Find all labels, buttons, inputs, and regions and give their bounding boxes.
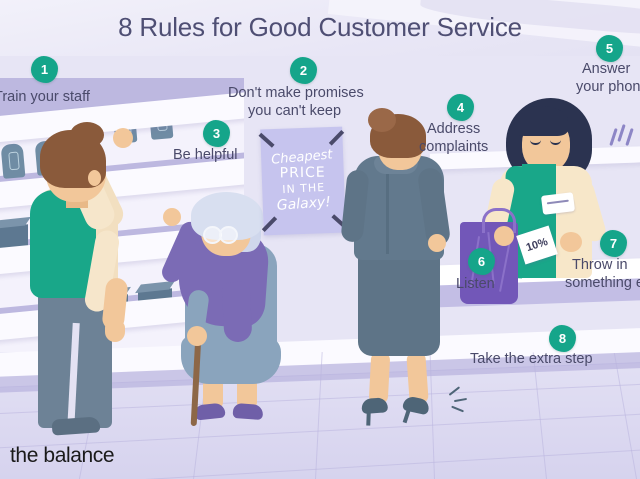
rule-badge-4: 4 [447,94,474,121]
rule-label-2-line2: you can't keep [248,102,341,120]
rule-badge-3: 3 [203,120,230,147]
sound-lines-icon [612,124,638,154]
rule-badge-6: 6 [468,248,495,275]
rule-badge-5: 5 [596,35,623,62]
rule-label-2-line1: Don't make promises [228,84,364,102]
sign-line-3: IN THE [282,182,325,196]
sign-tape [259,133,275,148]
clerk-lower-hand [105,320,125,342]
character-store-clerk [8,118,168,448]
rule-label-5-line2: your phone [576,78,640,96]
rule-label-7-line2: something extra [565,274,640,292]
rule-label-4-line1: Address [427,120,480,138]
clerk-ear [88,170,101,186]
rule-badge-7: 7 [600,230,627,257]
clerk-hair-top [70,122,104,148]
rule-label-5-line1: Answer [582,60,630,78]
customer-heel-shoe [361,397,393,425]
page-title: 8 Rules for Good Customer Service [0,12,640,43]
rule-badge-2: 2 [290,57,317,84]
clerk-raised-hand [113,128,133,148]
assistant-hair-front [514,106,568,136]
clerk-shoe [52,416,101,435]
rule-badge-8: 8 [549,325,576,352]
rule-badge-1: 1 [31,56,58,83]
customer-heel-shoe [400,395,435,427]
customer-hand [428,234,446,252]
customer-jacket-seam [386,162,389,254]
granny-shawl-tail [221,281,252,342]
price-sign: Cheapest PRICE IN THE Galaxy! [260,127,346,236]
sign-line-2: PRICE [280,166,326,181]
granny-raised-hand [163,208,181,226]
assistant-name-tag [541,192,575,215]
customer-skirt [358,246,440,356]
granny-cane-hand [187,326,207,346]
assistant-hand [560,232,582,252]
granny-shoe [233,403,264,420]
granny-shoe [194,402,225,420]
granny-glasses-lens [219,226,238,244]
rule-label-4-line2: complaints [419,138,488,156]
customer-hair-bun [368,108,396,132]
motion-lines [448,388,478,414]
sign-tape [262,216,277,232]
rule-label-7-line1: Throw in [572,256,628,274]
character-business-customer [336,116,466,426]
infographic-canvas: 8 Rules for Good Customer Service [0,0,640,479]
brand-logo: the balance [10,444,114,468]
coupon-text: 10% [525,236,550,254]
rule-label-6: Listen [456,275,495,293]
rule-label-8: Take the extra step [470,350,593,368]
sign-line-4: Galaxy! [276,195,331,213]
rule-label-3: Be helpful [173,146,238,164]
assistant-hand [494,226,514,246]
rule-label-1: Train your staff [0,88,90,106]
